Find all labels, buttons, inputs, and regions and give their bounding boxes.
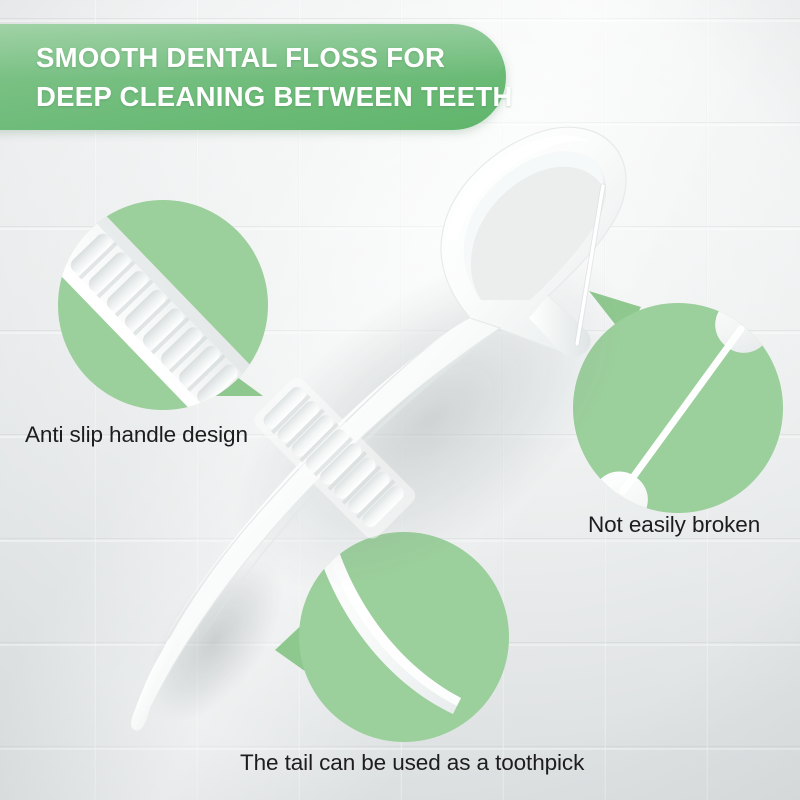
headline-banner: SMOOTH DENTAL FLOSS FOR DEEP CLEANING BE… (0, 24, 506, 130)
banner-line-2: DEEP CLEANING BETWEEN TEETH (36, 77, 488, 116)
caption-tail-toothpick: The tail can be used as a toothpick (240, 750, 584, 776)
caption-not-easily-broken: Not easily broken (588, 512, 760, 538)
banner-text-block: SMOOTH DENTAL FLOSS FOR DEEP CLEANING BE… (36, 38, 488, 116)
infographic-canvas: SMOOTH DENTAL FLOSS FOR DEEP CLEANING BE… (0, 0, 800, 800)
callout-not-easily-broken (555, 285, 790, 515)
caption-anti-slip-handle: Anti slip handle design (25, 422, 248, 448)
callout-anti-slip-handle (58, 200, 288, 415)
callout-tail-toothpick (285, 532, 515, 747)
banner-line-1: SMOOTH DENTAL FLOSS FOR (36, 38, 488, 77)
